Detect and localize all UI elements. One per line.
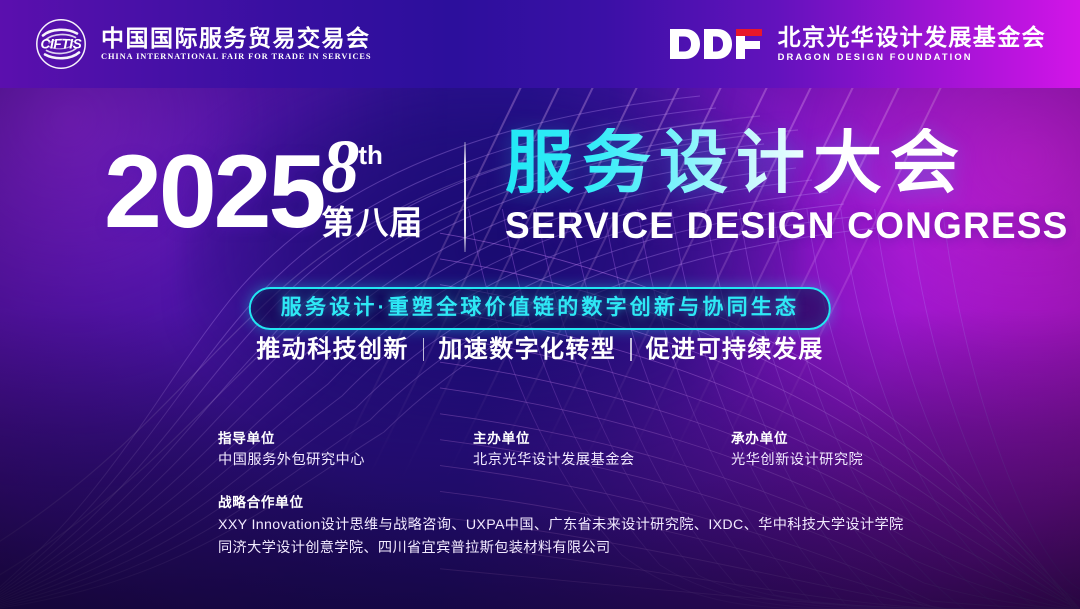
conference-poster: CIFTIS 中国国际服务贸易交易会 CHINA INTERNATIONAL F…	[0, 0, 1080, 609]
slogan-item: 加速数字化转型	[424, 334, 630, 365]
ordinal-label-cn: 第八届	[321, 206, 423, 239]
ddf-logo: 北京光华设计发展基金会 DRAGON DESIGN FOUNDATION	[668, 24, 1046, 64]
credits-block: 指导单位 中国服务外包研究中心 主办单位 北京光华设计发展基金会 承办单位 光华…	[218, 428, 978, 560]
main-title-block: 服务设计大会 SERVICE DESIGN CONGRESS	[505, 128, 1069, 244]
credit-column-organizer: 承办单位 光华创新设计研究院	[731, 428, 971, 471]
slogan-item: 推动科技创新	[242, 334, 422, 365]
credit-value: 中国服务外包研究中心	[218, 449, 473, 471]
edition-block: 2025 8 th 第八届	[104, 128, 423, 268]
ciftis-logo: CIFTIS 中国国际服务贸易交易会 CHINA INTERNATIONAL F…	[34, 17, 372, 71]
ordinal-suffix: th	[358, 142, 383, 168]
credit-value: 北京光华设计发展基金会	[473, 449, 731, 471]
tagline-text: 服务设计·重塑全球价值链的数字创新与协同生态	[281, 295, 799, 321]
ddf-name-en: DRAGON DESIGN FOUNDATION	[778, 51, 1046, 63]
credit-label: 指导单位	[218, 428, 473, 449]
partners-line: XXY Innovation设计思维与战略咨询、UXPA中国、广东省未来设计研究…	[218, 514, 978, 537]
partners-label: 战略合作单位	[218, 492, 978, 513]
ciftis-name-en: CHINA INTERNATIONAL FAIR FOR TRADE IN SE…	[101, 52, 372, 63]
credit-columns: 指导单位 中国服务外包研究中心 主办单位 北京光华设计发展基金会 承办单位 光华…	[218, 428, 978, 471]
year-number: 2025	[104, 140, 323, 244]
title-row: 2025 8 th 第八届 服务设计大会 SERVICE DESIGN CONG…	[0, 128, 1080, 268]
ordinal-number: 8	[321, 136, 357, 198]
ciftis-emblem-icon: CIFTIS	[34, 17, 88, 71]
credit-column-host: 主办单位 北京光华设计发展基金会	[473, 428, 731, 471]
slogan-item: 促进可持续发展	[632, 334, 838, 365]
credit-label: 承办单位	[731, 428, 971, 449]
credit-label: 主办单位	[473, 428, 731, 449]
partners-line: 同济大学设计创意学院、四川省宜宾普拉斯包装材料有限公司	[218, 537, 978, 560]
ddf-name-cn: 北京光华设计发展基金会	[778, 25, 1046, 51]
main-title-cn: 服务设计大会	[505, 128, 1069, 198]
slogan-row: 推动科技创新 加速数字化转型 促进可持续发展	[0, 334, 1080, 365]
svg-text:CIFTIS: CIFTIS	[41, 37, 82, 52]
ciftis-name-cn: 中国国际服务贸易交易会	[101, 26, 372, 52]
title-divider	[464, 142, 466, 252]
ddf-wordmark-icon	[668, 24, 764, 64]
tagline-banner: 服务设计·重塑全球价值链的数字创新与协同生态	[249, 287, 831, 330]
strategic-partners-block: 战略合作单位 XXY Innovation设计思维与战略咨询、UXPA中国、广东…	[218, 492, 978, 560]
header-bar: CIFTIS 中国国际服务贸易交易会 CHINA INTERNATIONAL F…	[0, 0, 1080, 88]
credit-column-guidance: 指导单位 中国服务外包研究中心	[218, 428, 473, 471]
credit-value: 光华创新设计研究院	[731, 449, 971, 471]
main-title-en: SERVICE DESIGN CONGRESS	[505, 207, 1069, 244]
